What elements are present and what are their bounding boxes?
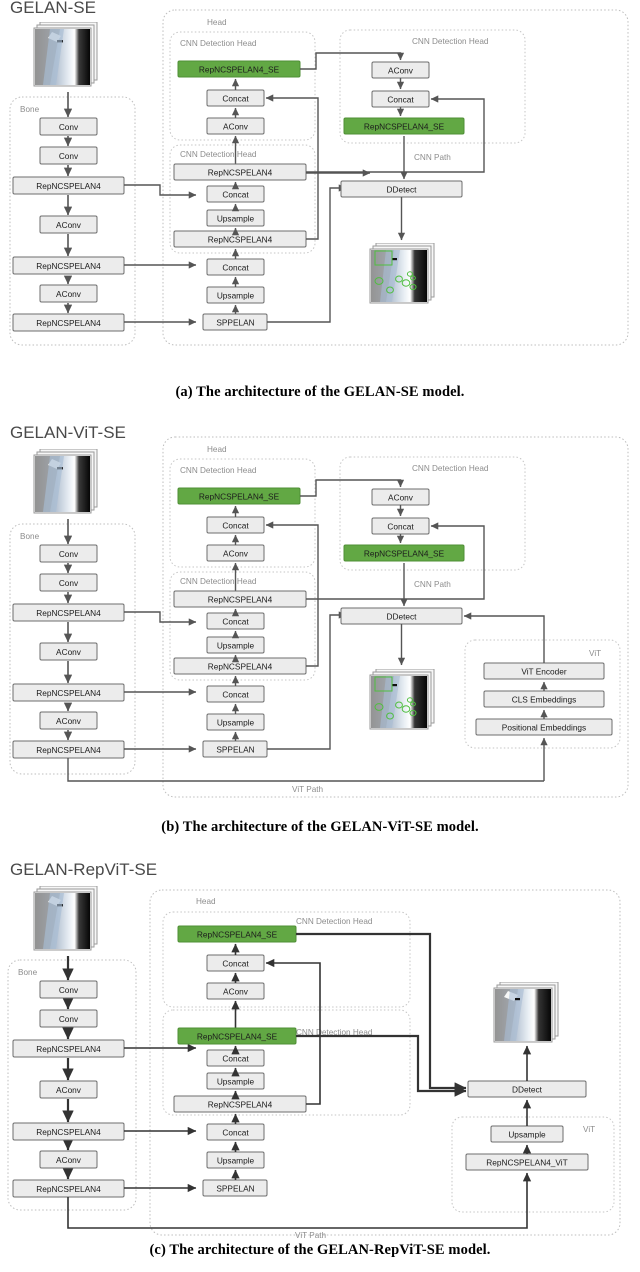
panel-a-block-repncspelan4se-top: RepNCSPELAN4_SE <box>178 61 300 77</box>
panel-gelan-vit-se: GELAN-ViT-SE Bone Head CNN Detection Hea… <box>0 425 640 830</box>
panel-a-head-label: Head <box>207 18 227 27</box>
panel-c-block-upsample-vit: Upsample <box>491 1126 563 1142</box>
panel-a-block-repncspelan4-1-label: RepNCSPELAN4 <box>36 181 101 191</box>
panel-b-block-conv-2: Conv <box>40 574 97 591</box>
panel-a-block-concat-mid-label: Concat <box>222 190 249 200</box>
panel-a-block-concat-top-label: Concat <box>222 94 249 104</box>
panel-a-block-concat-top: Concat <box>207 90 264 106</box>
panel-c-block-concat-mid: Concat <box>207 1050 264 1066</box>
panel-c-block-conv-2-label: Conv <box>59 1014 79 1024</box>
panel-b-cnn-head-right-label: CNN Detection Head <box>412 464 489 473</box>
panel-a-block-repncspelan4-1: RepNCSPELAN4 <box>13 177 124 194</box>
panel-b-block-concat-bottom: Concat <box>207 686 264 702</box>
panel-b-block-repncspelan4se-right-label: RepNCSPELAN4_SE <box>364 549 445 559</box>
panel-c-block-aconv-1: AConv <box>40 1081 97 1098</box>
panel-b-block-concat-mid-label: Concat <box>222 617 249 627</box>
panel-a-block-sppelan-label: SPPELAN <box>216 318 254 328</box>
panel-a-block-repncspelan4-3: RepNCSPELAN4 <box>13 314 124 331</box>
panel-c-block-repncspelan4-head-low-label: RepNCSPELAN4 <box>208 1100 273 1110</box>
panel-b-block-aconv-2-label: AConv <box>56 716 82 726</box>
panel-b-block-repncspelan4-3: RepNCSPELAN4 <box>13 741 124 758</box>
panel-b-block-repncspelan4-head-mid-label: RepNCSPELAN4 <box>208 595 273 605</box>
panel-a-block-concat-bottom-label: Concat <box>222 263 249 273</box>
panel-a-cnn-head-top-label: CNN Detection Head <box>180 39 257 48</box>
panel-c-block-concat-mid-label: Concat <box>222 1054 249 1064</box>
panel-b-block-sppelan-label: SPPELAN <box>216 745 254 755</box>
panel-c-block-concat-bottom-label: Concat <box>222 1128 249 1138</box>
panel-a-block-repncspelan4-head-mid: RepNCSPELAN4 <box>174 164 306 180</box>
panel-b-output-image <box>368 669 438 731</box>
panel-a-block-repncspelan4se-right-label: RepNCSPELAN4_SE <box>364 122 445 132</box>
panel-c-block-repncspelan4-3: RepNCSPELAN4 <box>13 1180 124 1197</box>
panel-b-block-concat-top-label: Concat <box>222 521 249 531</box>
panel-a-block-concat-right: Concat <box>372 91 429 107</box>
panel-b-block-positional-embeddings: Positional Embeddings <box>476 719 612 735</box>
panel-c-block-upsample-bottom-label: Upsample <box>217 1156 255 1166</box>
panel-a-block-concat-mid: Concat <box>207 186 264 202</box>
panel-a-backbone-label: Bone <box>20 105 40 114</box>
panel-a-block-aconv-right-label: AConv <box>388 66 414 76</box>
panel-b-block-ddetect: DDetect <box>341 608 462 624</box>
panel-b-block-positional-embeddings-label: Positional Embeddings <box>502 723 586 733</box>
panel-c-block-aconv-1-label: AConv <box>56 1085 82 1095</box>
panel-c-block-repncspelan4-1-label: RepNCSPELAN4 <box>36 1044 101 1054</box>
panel-a-cnn-head-right-label: CNN Detection Head <box>412 37 489 46</box>
panel-c-block-repncspelan4-2-label: RepNCSPELAN4 <box>36 1127 101 1137</box>
panel-c-block-repncspelan4-3-label: RepNCSPELAN4 <box>36 1184 101 1194</box>
panel-b-diagram: Bone Head CNN Detection Head CNN Detecti… <box>0 425 640 830</box>
panel-c-block-ddetect: DDetect <box>468 1081 586 1097</box>
panel-a-block-aconv-1-label: AConv <box>56 220 82 230</box>
panel-a-cnn-head-mid-label: CNN Detection Head <box>180 150 257 159</box>
panel-c-block-aconv-2-label: AConv <box>56 1155 82 1165</box>
panel-a-block-concat-bottom: Concat <box>207 259 264 275</box>
panel-c-block-repncspelan4se-mid: RepNCSPELAN4_SE <box>178 1028 296 1044</box>
panel-b-backbone-label: Bone <box>20 532 40 541</box>
panel-b-block-repncspelan4-2: RepNCSPELAN4 <box>13 684 124 701</box>
panel-b-block-aconv-right-label: AConv <box>388 493 414 503</box>
panel-c-output-image <box>492 982 562 1044</box>
panel-a-block-aconv-head: AConv <box>207 118 264 134</box>
panel-a-diagram: Bone Head CNN Detection Head CNN Detecti… <box>0 0 640 375</box>
panel-c-block-repncspelan4-vit-label: RepNCSPELAN4_ViT <box>486 1158 567 1168</box>
panel-c-block-repncspelan4-1: RepNCSPELAN4 <box>13 1040 124 1057</box>
panel-a-block-repncspelan4-head-low: RepNCSPELAN4 <box>174 231 306 247</box>
panel-b-cnn-head-top-label: CNN Detection Head <box>180 466 257 475</box>
panel-b-block-conv-1-label: Conv <box>59 549 79 559</box>
panel-c-block-repncspelan4-head-low: RepNCSPELAN4 <box>174 1096 306 1112</box>
panel-c-diagram: Bone Head CNN Detection Head CNN Detecti… <box>0 860 640 1272</box>
panel-a-block-conv-2-label: Conv <box>59 151 79 161</box>
panel-b-head-label: Head <box>207 445 227 454</box>
panel-b-block-repncspelan4se-top-label: RepNCSPELAN4_SE <box>199 492 280 502</box>
panel-b-block-aconv-head-label: AConv <box>223 549 249 559</box>
panel-c-block-upsample-vit-label: Upsample <box>508 1130 546 1140</box>
panel-b-block-aconv-1: AConv <box>40 643 97 660</box>
panel-a-block-conv-1: Conv <box>40 118 97 135</box>
panel-b-block-repncspelan4se-right: RepNCSPELAN4_SE <box>344 545 464 561</box>
panel-b-block-repncspelan4-head-mid: RepNCSPELAN4 <box>174 591 306 607</box>
panel-a-output-image <box>368 243 438 305</box>
panel-b-block-aconv-head: AConv <box>207 545 264 561</box>
panel-a-block-aconv-right: AConv <box>372 62 429 78</box>
panel-a-block-repncspelan4-head-low-label: RepNCSPELAN4 <box>208 235 273 245</box>
panel-b-block-repncspelan4-head-low: RepNCSPELAN4 <box>174 658 306 674</box>
panel-c-block-aconv-2: AConv <box>40 1151 97 1168</box>
panel-a-caption: (a) The architecture of the GELAN-SE mod… <box>0 384 640 401</box>
panel-b-cnn-head-mid-label: CNN Detection Head <box>180 577 257 586</box>
panel-c-block-upsample-bottom: Upsample <box>207 1152 264 1168</box>
panel-b-block-upsample-bottom: Upsample <box>207 714 264 730</box>
panel-c-vit-label: ViT <box>583 1125 595 1134</box>
panel-a-block-conv-2: Conv <box>40 147 97 164</box>
panel-c-head-label: Head <box>196 897 216 906</box>
panel-c-block-conv-1: Conv <box>40 981 97 998</box>
panel-a-block-upsample-mid-label: Upsample <box>217 214 255 224</box>
panel-b-block-upsample-bottom-label: Upsample <box>217 718 255 728</box>
panel-a-block-aconv-2-label: AConv <box>56 289 82 299</box>
panel-b-block-vit-encoder: ViT Encoder <box>484 663 604 679</box>
panel-b-block-concat-right: Concat <box>372 518 429 534</box>
panel-a-block-repncspelan4-head-mid-label: RepNCSPELAN4 <box>208 168 273 178</box>
panel-a-block-repncspelan4-3-label: RepNCSPELAN4 <box>36 318 101 328</box>
panel-c-block-repncspelan4-vit: RepNCSPELAN4_ViT <box>466 1154 588 1170</box>
panel-a-block-aconv-2: AConv <box>40 285 97 302</box>
panel-b-caption: (b) The architecture of the GELAN-ViT-SE… <box>0 819 640 836</box>
panel-c-block-concat-top-label: Concat <box>222 959 249 969</box>
panel-b-block-repncspelan4-1-label: RepNCSPELAN4 <box>36 608 101 618</box>
panel-gelan-se: GELAN-SE <box>0 0 640 375</box>
panel-a-block-upsample-mid: Upsample <box>207 210 264 226</box>
panel-a-block-conv-1-label: Conv <box>59 122 79 132</box>
panel-a-block-repncspelan4se-right: RepNCSPELAN4_SE <box>344 118 464 134</box>
panel-b-cnn-path-label: CNN Path <box>414 580 451 589</box>
panel-b-block-cls-embeddings-label: CLS Embeddings <box>512 695 577 705</box>
panel-b-block-conv-2-label: Conv <box>59 578 79 588</box>
panel-b-block-repncspelan4-2-label: RepNCSPELAN4 <box>36 688 101 698</box>
panel-c-block-conv-1-label: Conv <box>59 985 79 995</box>
panel-c-block-concat-top: Concat <box>207 955 264 971</box>
panel-b-block-repncspelan4-head-low-label: RepNCSPELAN4 <box>208 662 273 672</box>
panel-c-block-conv-2: Conv <box>40 1010 97 1027</box>
panel-c-backbone-label: Bone <box>18 968 38 977</box>
panel-c-block-repncspelan4se-mid-label: RepNCSPELAN4_SE <box>197 1032 278 1042</box>
panel-a-block-repncspelan4se-top-label: RepNCSPELAN4_SE <box>199 65 280 75</box>
panel-gelan-repvit-se: GELAN-RepViT-SE Bone Head CNN Detection … <box>0 860 640 1272</box>
panel-b-block-aconv-1-label: AConv <box>56 647 82 657</box>
panel-a-block-aconv-1: AConv <box>40 216 97 233</box>
panel-a-block-upsample-bottom-label: Upsample <box>217 291 255 301</box>
panel-a-block-aconv-head-label: AConv <box>223 122 249 132</box>
panel-c-block-aconv-head: AConv <box>207 983 264 999</box>
panel-b-block-sppelan: SPPELAN <box>203 741 267 757</box>
panel-c-block-sppelan-label: SPPELAN <box>216 1184 254 1194</box>
panel-c-block-upsample-mid: Upsample <box>207 1073 264 1089</box>
panel-b-vit-path-label: ViT Path <box>292 785 324 794</box>
panel-b-block-concat-mid: Concat <box>207 613 264 629</box>
panel-b-block-aconv-right: AConv <box>372 489 429 505</box>
panel-c-cnn-head-top-label: CNN Detection Head <box>296 917 373 926</box>
panel-c-caption: (c) The architecture of the GELAN-RepViT… <box>0 1242 640 1259</box>
panel-c-block-repncspelan4se-top-label: RepNCSPELAN4_SE <box>197 930 278 940</box>
panel-c-block-concat-bottom: Concat <box>207 1124 264 1140</box>
panel-c-block-repncspelan4se-top: RepNCSPELAN4_SE <box>178 926 296 942</box>
panel-b-vit-label: ViT <box>589 649 601 658</box>
panel-c-vit-path-label: ViT Path <box>295 1231 327 1240</box>
panel-b-block-repncspelan4se-top: RepNCSPELAN4_SE <box>178 488 300 504</box>
panel-b-block-conv-1: Conv <box>40 545 97 562</box>
panel-b-block-repncspelan4-1: RepNCSPELAN4 <box>13 604 124 621</box>
panel-b-block-upsample-mid: Upsample <box>207 637 264 653</box>
panel-c-block-upsample-mid-label: Upsample <box>217 1077 255 1087</box>
panel-b-block-vit-encoder-label: ViT Encoder <box>521 667 567 677</box>
panel-c-block-ddetect-label: DDetect <box>512 1085 543 1095</box>
panel-a-block-repncspelan4-2-label: RepNCSPELAN4 <box>36 261 101 271</box>
panel-a-block-upsample-bottom: Upsample <box>207 287 264 303</box>
panel-b-block-concat-bottom-label: Concat <box>222 690 249 700</box>
panel-b-block-aconv-2: AConv <box>40 712 97 729</box>
panel-a-block-sppelan: SPPELAN <box>203 314 267 330</box>
panel-a-block-ddetect-label: DDetect <box>387 185 418 195</box>
panel-c-block-sppelan: SPPELAN <box>203 1180 267 1196</box>
panel-a-block-repncspelan4-2: RepNCSPELAN4 <box>13 257 124 274</box>
panel-a-cnn-path-label: CNN Path <box>414 153 451 162</box>
panel-b-block-upsample-mid-label: Upsample <box>217 641 255 651</box>
panel-c-block-repncspelan4-2: RepNCSPELAN4 <box>13 1123 124 1140</box>
panel-a-block-ddetect: DDetect <box>341 181 462 197</box>
panel-b-block-ddetect-label: DDetect <box>387 612 418 622</box>
panel-a-block-concat-right-label: Concat <box>387 95 414 105</box>
panel-b-block-cls-embeddings: CLS Embeddings <box>484 691 604 707</box>
panel-b-block-concat-top: Concat <box>207 517 264 533</box>
panel-b-block-concat-right-label: Concat <box>387 522 414 532</box>
panel-c-block-aconv-head-label: AConv <box>223 987 249 997</box>
panel-b-block-repncspelan4-3-label: RepNCSPELAN4 <box>36 745 101 755</box>
